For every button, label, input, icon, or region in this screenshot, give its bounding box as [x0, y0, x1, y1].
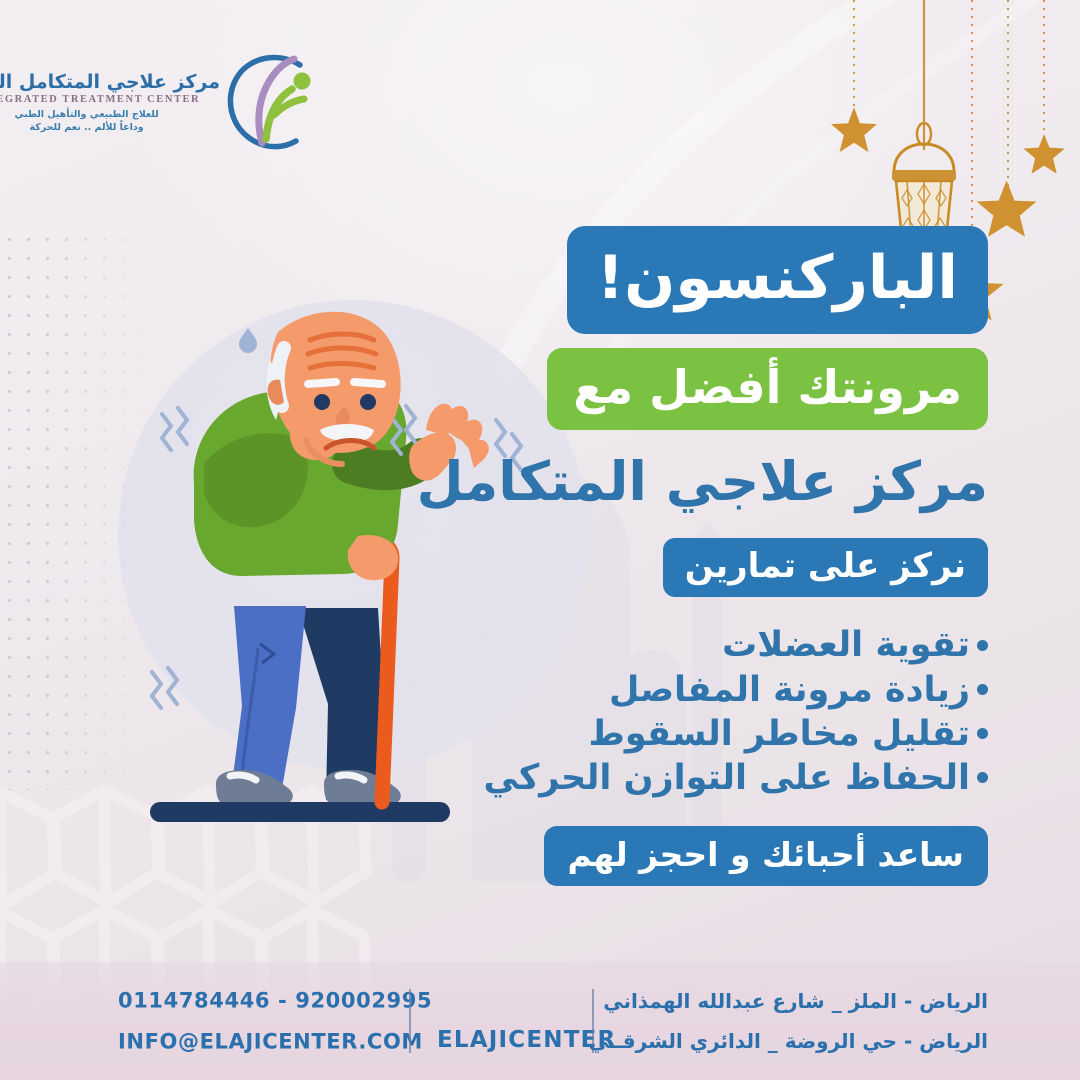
benefit-label: الحفاظ على التوازن الحركي — [484, 756, 971, 800]
footer-content: 0114784446 - 920002995 INFO@ELAJICENTER.… — [0, 962, 1080, 1080]
address-line-2: الرياض - حي الروضة _ الدائري الشرقــي — [589, 1029, 988, 1053]
right-eye — [360, 394, 376, 410]
center-name-heading: مركز علاجي المتكامل — [448, 452, 988, 512]
benefit-label: تقليل مخاطر السقوط — [588, 712, 970, 756]
address-line-1: الرياض - الملز _ شارع عبدالله الهمذاني — [589, 989, 988, 1013]
bullet-dot-icon — [977, 772, 988, 783]
address-block: الرياض - الملز _ شارع عبدالله الهمذاني ا… — [589, 989, 988, 1053]
promise-badge: مرونتك أفضل مع — [547, 348, 988, 430]
benefit-label: زيادة مرونة المفاصل — [609, 668, 970, 712]
bullet-dot-icon — [977, 728, 988, 739]
logo-english-name: INTEGRATED TREATMENT CENTER — [0, 95, 200, 106]
contact-block: 0114784446 - 920002995 INFO@ELAJICENTER.… — [118, 989, 432, 1054]
list-item: تقوية العضلات — [448, 623, 988, 667]
email-address[interactable]: INFO@ELAJICENTER.COM — [118, 1030, 432, 1054]
benefit-label: تقوية العضلات — [722, 623, 970, 667]
condition-badge: الباركنسون! — [567, 226, 988, 334]
logo-mark-icon — [222, 51, 326, 155]
list-item: زيادة مرونة المفاصل — [448, 668, 988, 712]
dot-grid-pattern — [0, 230, 150, 790]
bullet-dot-icon — [977, 684, 988, 695]
copy-column: الباركنسون! مرونتك أفضل مع مركز علاجي ال… — [448, 226, 988, 886]
phone-numbers[interactable]: 0114784446 - 920002995 — [118, 989, 432, 1013]
logo-tagline-primary: للعلاج الطبيعي والتأهيل الطبي — [14, 110, 158, 120]
poster-canvas: مركز علاجي المتكامل الطبي INTEGRATED TRE… — [0, 0, 1080, 1080]
logo-text-block: مركز علاجي المتكامل الطبي INTEGRATED TRE… — [0, 73, 220, 133]
footer-bar: 0114784446 - 920002995 INFO@ELAJICENTER.… — [0, 962, 1080, 1080]
ground-bar — [150, 802, 450, 822]
logo-tagline-secondary: وداعاً للألم .. نعم للحركة — [29, 123, 143, 133]
brand-logo: مركز علاجي المتكامل الطبي INTEGRATED TRE… — [26, 40, 326, 165]
footer-divider — [409, 989, 411, 1053]
benefits-list: تقوية العضلات زيادة مرونة المفاصل تقليل … — [448, 623, 988, 799]
list-item: تقليل مخاطر السقوط — [448, 712, 988, 756]
cta-badge[interactable]: ساعد أحبائك و احجز لهم — [544, 826, 988, 886]
focus-badge: نركز على تمارين — [663, 538, 988, 597]
left-eye — [314, 394, 330, 410]
bullet-dot-icon — [977, 640, 988, 651]
logo-arabic-name: مركز علاجي المتكامل الطبي — [0, 73, 220, 92]
list-item: الحفاظ على التوازن الحركي — [448, 756, 988, 800]
